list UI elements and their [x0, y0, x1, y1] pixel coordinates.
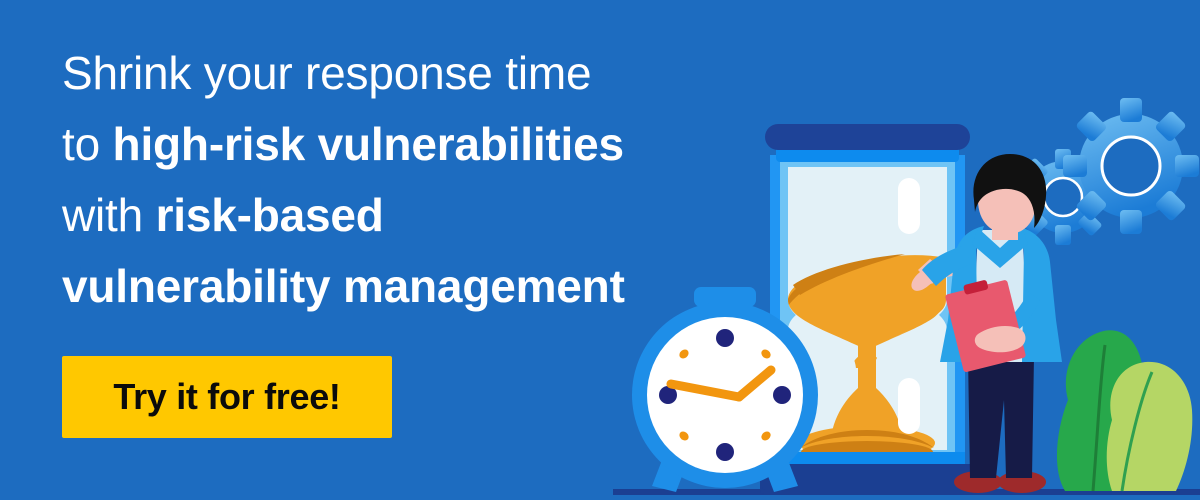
headline-block: Shrink your response time to high-risk v… [62, 38, 682, 322]
clock-dot-12 [716, 329, 734, 347]
glass-highlight-bottom [898, 378, 920, 434]
headline-line-3-regular: with [62, 189, 156, 241]
headline-line-2: to high-risk vulnerabilities [62, 109, 682, 180]
headline-line-1-regular: Shrink your response time [62, 47, 591, 99]
headline-line-1: Shrink your response time [62, 38, 682, 109]
clock-dot-6 [716, 443, 734, 461]
headline-line-4-bold: vulnerability management [62, 260, 625, 312]
headline-line-2-bold: high-risk vulnerabilities [113, 118, 624, 170]
person-neck [992, 222, 1018, 240]
clock-dot-3 [773, 386, 791, 404]
headline-line-2-regular: to [62, 118, 113, 170]
promo-banner: Shrink your response time to high-risk v… [0, 0, 1200, 500]
headline-line-4: vulnerability management [62, 251, 682, 322]
try-it-for-free-button[interactable]: Try it for free! [62, 356, 392, 438]
hourglass-top-cap [765, 124, 970, 150]
headline-line-3-bold: risk-based [156, 189, 384, 241]
headline-line-3: with risk-based [62, 180, 682, 251]
glass-highlight-top [898, 178, 920, 234]
gear-large [1063, 98, 1199, 234]
